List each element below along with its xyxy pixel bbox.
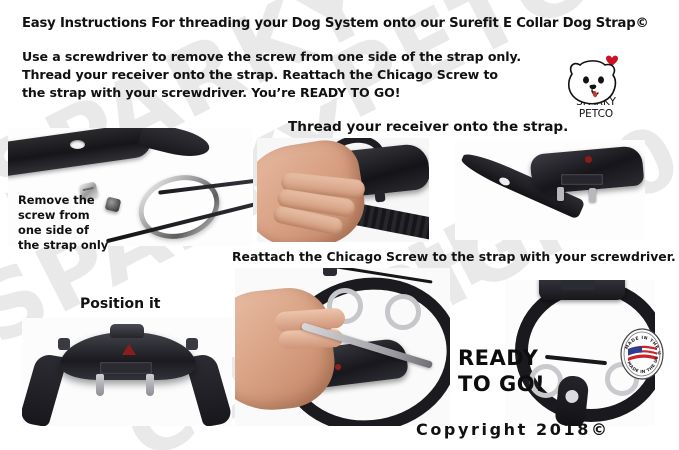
caption-line-2: screw from (18, 208, 108, 223)
receiver-probe (96, 374, 104, 396)
strap-hole (70, 140, 85, 149)
receiver-probe (146, 374, 154, 396)
caption-line-3: one side of (18, 223, 108, 238)
mounting-post (186, 338, 198, 350)
sparky-petco-logo (560, 52, 630, 114)
led-indicator (335, 364, 341, 370)
instruction-poster: SPARKY SPARKY COPYRIGHT PETCO HT 20 (0, 0, 679, 450)
made-in-usa-badge: MADE IN THE USA MADE IN THE USA (618, 327, 666, 381)
caption-line-4: the strap only (18, 238, 108, 253)
receiver-probe (589, 188, 596, 202)
led-indicator (122, 344, 136, 355)
dog-strap-shape (8, 128, 154, 176)
d-ring-shape (131, 166, 227, 246)
remove-screw-caption: Remove the screw from one side of the st… (18, 193, 108, 253)
strap-hole (565, 389, 579, 403)
receiver-label (561, 174, 603, 185)
step-heading-position: Position it (80, 296, 160, 312)
hand-with-screwdriver-photo (235, 268, 450, 426)
intro-paragraph: Use a screwdriver to remove the screw fr… (22, 48, 532, 102)
receiver-on-strap-photo (455, 140, 645, 240)
chicago-screw-head (323, 268, 337, 276)
mounting-post (58, 338, 70, 350)
step-heading-thread: Thread your receiver onto the strap. (288, 119, 568, 135)
receiver-tab (110, 324, 144, 338)
receiver-probe (557, 187, 564, 201)
caption-line-1: Remove the (18, 193, 108, 208)
step-heading-reattach: Reattach the Chicago Screw to the strap … (232, 249, 676, 264)
receiver-unit (529, 145, 644, 195)
intro-line-3: the strap with your screwdriver. You’re … (22, 84, 532, 102)
ready-line-2: TO GO! (458, 371, 545, 397)
ready-line-1: READY (458, 345, 545, 371)
led-indicator (585, 156, 592, 163)
ready-to-go-text: READY TO GO! (458, 345, 545, 397)
page-title: Easy Instructions For threading your Dog… (22, 16, 648, 31)
intro-line-2: Thread your receiver onto the strap. Rea… (22, 66, 532, 84)
strap-tag (554, 375, 589, 426)
receiver-label (100, 362, 152, 374)
receiver-front-view-photo (22, 318, 232, 426)
d-ring-shape (385, 294, 421, 330)
intro-line-1: Use a screwdriver to remove the screw fr… (22, 48, 532, 66)
dog-face-icon (560, 52, 630, 114)
copyright-notice: Copyright 2018© (416, 420, 610, 439)
usa-flag-icon: MADE IN THE USA MADE IN THE USA (618, 327, 666, 381)
hand-threading-receiver-photo (257, 138, 429, 242)
receiver-probe (374, 190, 385, 203)
receiver-label (561, 280, 595, 290)
